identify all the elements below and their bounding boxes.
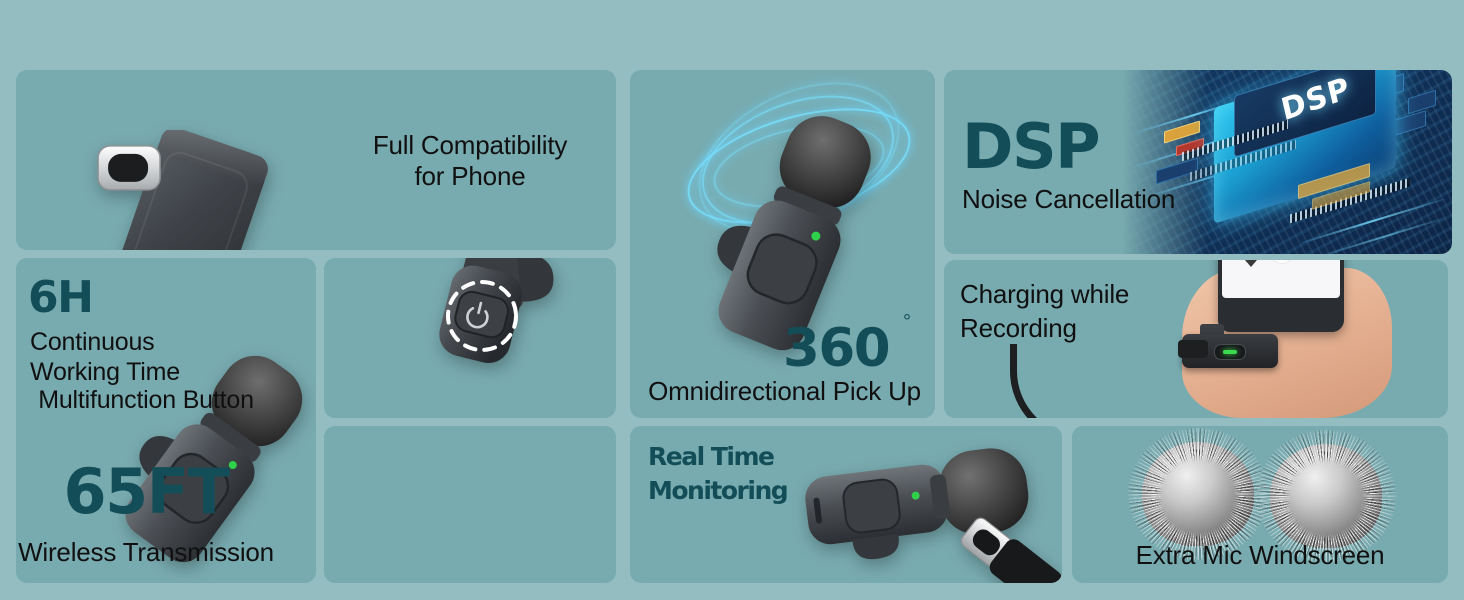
windscreen-icon <box>1142 442 1254 546</box>
windscreen-icon <box>1270 444 1382 548</box>
charging-cable-icon <box>1010 344 1197 418</box>
dsp-subtext: Noise Cancellation <box>962 184 1175 215</box>
omnidirectional-caption: Omnidirectional Pick Up <box>632 376 937 407</box>
record-stop-icon <box>1270 260 1294 264</box>
charging-while-recording-text: Charging while Recording <box>960 277 1129 346</box>
wireless-range-headline: 65FT <box>0 455 292 528</box>
product-feature-infographic: Full Compatibility for Phone <box>0 0 1464 600</box>
battery-life-headline: 6H <box>28 272 92 324</box>
usb-c-and-lightning-connector-icon <box>76 130 356 250</box>
panel-wireless-range <box>324 426 616 583</box>
phone-screen <box>1222 260 1340 298</box>
phone-icon <box>1218 260 1344 332</box>
windscreen-caption: Extra Mic Windscreen <box>1072 540 1448 571</box>
wireless-range-caption: Wireless Transmission <box>0 537 292 568</box>
receiver-led-indicator <box>1214 344 1246 360</box>
real-time-monitoring-headline: Real Time Monitoring <box>648 440 787 508</box>
sound-halo-rings-icon <box>678 80 918 240</box>
full-compatibility-text: Full Compatibility for Phone <box>345 130 595 191</box>
degree-symbol-icon: ° <box>903 311 911 335</box>
multifunction-button-caption: Multifunction Button <box>0 386 292 416</box>
cable-plug-icon <box>1178 340 1208 358</box>
power-button-closeup-icon <box>404 258 554 392</box>
dsp-circuit-board-image: DSP <box>1122 70 1452 254</box>
panel-multifunction-button <box>324 258 616 418</box>
omnidirectional-headline: 360 <box>783 318 889 381</box>
hand-holding-phone-image <box>1142 260 1442 418</box>
dsp-headline: DSP <box>962 110 1099 183</box>
battery-life-subtext: Continuous Working Time <box>30 328 180 387</box>
microphone-with-usb-c-plug-icon <box>790 434 1062 583</box>
